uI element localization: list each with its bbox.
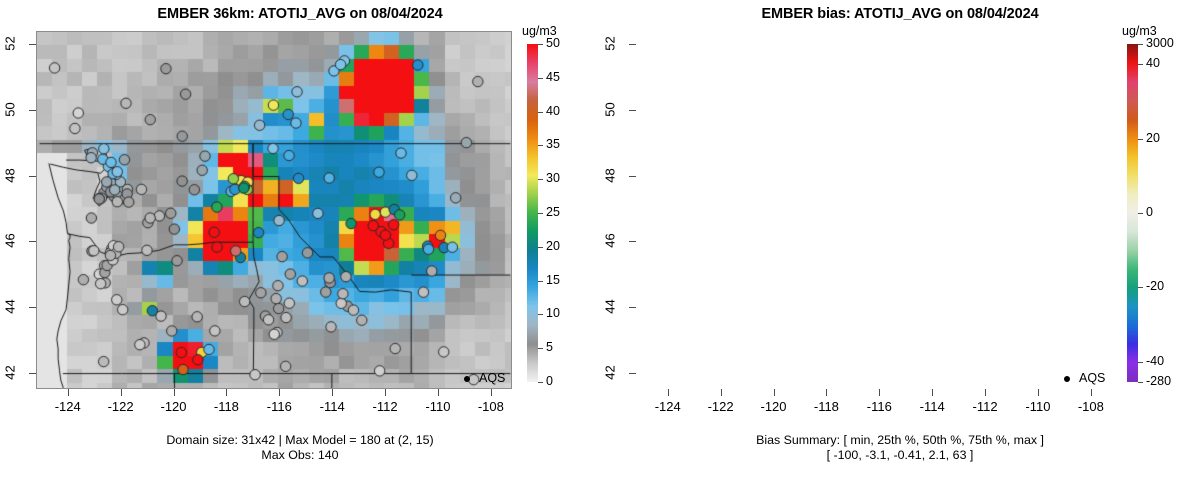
y-tick-label: 52 (3, 27, 18, 61)
colorbar-tick-label: -40 (1146, 354, 1164, 368)
colorbar-tickmark (538, 78, 543, 79)
x-tick-label: -108 (467, 399, 515, 414)
colorbar-tick-label: 5 (546, 340, 553, 354)
colorbar-tick-label: 50 (546, 36, 560, 50)
x-tickmark (279, 389, 280, 396)
y-tick-label: 46 (603, 224, 618, 258)
x-tickmark (332, 389, 333, 396)
colorbar-tickmark (538, 112, 543, 113)
y-tick-label: 42 (3, 355, 18, 389)
x-tickmark (121, 389, 122, 396)
colorbar-tickmark (1138, 382, 1143, 383)
colorbar-tickmark (538, 382, 543, 383)
x-tickmark (1091, 389, 1092, 396)
x-tickmark (668, 389, 669, 396)
x-tick-label: -122 (97, 399, 145, 414)
panel-bias: EMBER bias: ATOTIJ_AVG on 08/04/2024 -12… (600, 0, 1200, 479)
colorbar-tickmark (538, 179, 543, 180)
y-tickmark (29, 44, 36, 45)
x-tick-label: -114 (308, 399, 356, 414)
x-tick-label: -124 (644, 399, 692, 414)
colorbar-tickmark (538, 281, 543, 282)
x-tick-label: -124 (44, 399, 92, 414)
y-tick-label: 50 (603, 92, 618, 126)
colorbar-tick-label: 0 (546, 374, 553, 388)
y-tickmark (629, 110, 636, 111)
x-tick-label: -112 (961, 399, 1009, 414)
y-tickmark (629, 44, 636, 45)
x-tick-label: -116 (255, 399, 303, 414)
y-tickmark (629, 307, 636, 308)
x-tickmark (985, 389, 986, 396)
x-tickmark (826, 389, 827, 396)
y-tickmark (629, 241, 636, 242)
colorbar-tick-label: 0 (1146, 205, 1153, 219)
x-tickmark (226, 389, 227, 396)
x-tick-label: -118 (202, 399, 250, 414)
y-tick-label: 50 (3, 92, 18, 126)
colorbar-tickmark (1138, 287, 1143, 288)
aqs-legend-dot-icon (1064, 376, 1070, 382)
y-tickmark (629, 373, 636, 374)
x-tick-label: -108 (1067, 399, 1115, 414)
y-tickmark (29, 241, 36, 242)
colorbar-tick-label: 25 (546, 205, 560, 219)
x-tickmark (174, 389, 175, 396)
colorbar-tick-label: 40 (546, 104, 560, 118)
x-tickmark (932, 389, 933, 396)
y-tickmark (29, 110, 36, 111)
panel-model: EMBER 36km: ATOTIJ_AVG on 08/04/2024 -12… (0, 0, 600, 479)
x-tickmark (68, 389, 69, 396)
x-tick-label: -110 (1014, 399, 1062, 414)
colorbar-gradient (527, 44, 538, 382)
x-tickmark (721, 389, 722, 396)
caption-bias-line2: [ -100, -3.1, -0.41, 2.1, 63 ] (600, 448, 1200, 463)
colorbar-tickmark (1138, 213, 1143, 214)
colorbar-tick-label: -280 (1146, 374, 1171, 388)
x-tickmark (774, 389, 775, 396)
colorbar-tick-label: 20 (546, 239, 560, 253)
y-tickmark (29, 373, 36, 374)
colorbar-tick-label: 10 (546, 306, 560, 320)
x-tick-label: -114 (908, 399, 956, 414)
y-tickmark (29, 176, 36, 177)
colorbar-tick-label: 20 (1146, 131, 1160, 145)
caption-bias-line1: Bias Summary: [ min, 25th %, 50th %, 75t… (600, 433, 1200, 448)
colorbar-tick-label: 3000 (1146, 36, 1174, 50)
map-plot-model[interactable] (36, 31, 512, 389)
colorbar-tick-label: 15 (546, 273, 560, 287)
aqs-legend-dot-icon (464, 376, 470, 382)
aqs-legend-label: AQS (479, 371, 505, 385)
y-tick-label: 46 (3, 224, 18, 258)
x-tick-label: -118 (802, 399, 850, 414)
colorbar-tickmark (538, 348, 543, 349)
model-raster-canvas (37, 32, 512, 389)
page-title-bias: EMBER bias: ATOTIJ_AVG on 08/04/2024 (600, 6, 1200, 22)
caption-model-line1: Domain size: 31x42 | Max Model = 180 at … (0, 433, 600, 448)
y-tick-label: 44 (3, 289, 18, 323)
colorbar-tick-label: -20 (1146, 279, 1164, 293)
colorbar-tick-label: 30 (546, 171, 560, 185)
colorbar-tickmark (1138, 64, 1143, 65)
colorbar-tickmark (1138, 44, 1143, 45)
colorbar-tickmark (1138, 139, 1143, 140)
y-tick-label: 48 (3, 158, 18, 192)
y-tick-label: 42 (603, 355, 618, 389)
x-tickmark (1038, 389, 1039, 396)
page-title-model: EMBER 36km: ATOTIJ_AVG on 08/04/2024 (0, 6, 600, 22)
x-tickmark (438, 389, 439, 396)
colorbar-tickmark (538, 44, 543, 45)
y-tick-label: 48 (603, 158, 618, 192)
x-tickmark (879, 389, 880, 396)
aqs-legend-label: AQS (1079, 371, 1105, 385)
colorbar-tick-label: 35 (546, 137, 560, 151)
x-tick-label: -116 (855, 399, 903, 414)
y-tick-label: 44 (603, 289, 618, 323)
x-tickmark (385, 389, 386, 396)
y-tickmark (629, 176, 636, 177)
colorbar-tickmark (538, 247, 543, 248)
colorbar-tickmark (538, 145, 543, 146)
colorbar-tickmark (538, 213, 543, 214)
y-tickmark (29, 307, 36, 308)
x-tick-label: -120 (750, 399, 798, 414)
colorbar-gradient (1127, 44, 1138, 382)
colorbar-tick-label: 45 (546, 70, 560, 84)
caption-model-line2: Max Obs: 140 (0, 448, 600, 463)
y-tick-label: 52 (603, 27, 618, 61)
colorbar-tickmark (538, 314, 543, 315)
x-tick-label: -122 (697, 399, 745, 414)
x-tickmark (491, 389, 492, 396)
x-tick-label: -112 (361, 399, 409, 414)
colorbar-tick-label: 40 (1146, 56, 1160, 70)
x-tick-label: -120 (150, 399, 198, 414)
x-tick-label: -110 (414, 399, 462, 414)
colorbar-tickmark (1138, 362, 1143, 363)
